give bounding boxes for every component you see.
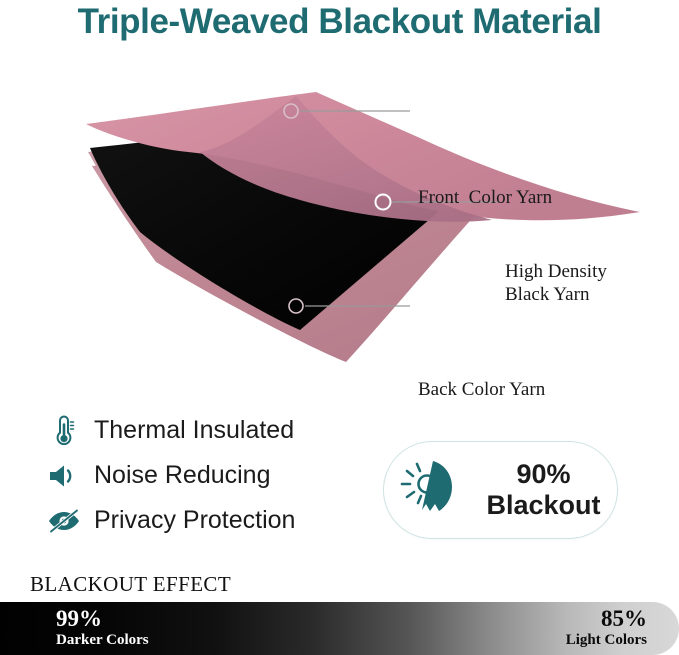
callout-label-middle: High DensityBlack Yarn (505, 260, 607, 306)
callout-label-front: Front Color Yarn (418, 186, 552, 209)
left-percent: 99% (56, 607, 149, 632)
badge-text: 90%Blackout (476, 459, 617, 521)
left-caption: Darker Colors (56, 632, 149, 649)
right-caption: Light Colors (566, 632, 647, 649)
page-title: Triple-Weaved Blackout Material (0, 2, 679, 42)
sun-blocked-icon (398, 455, 476, 525)
feature-list: Thermal Insulated Noise Reducing Privacy… (44, 408, 374, 543)
blackout-badge: 90%Blackout (383, 441, 618, 539)
fabric-layer-diagram: Front Color Yarn High DensityBlack Yarn … (0, 80, 679, 365)
feature-label: Thermal Insulated (94, 416, 294, 445)
callout-label-middle-line1: High Density (505, 261, 607, 282)
blackout-effect-heading: BLACKOUT EFFECT (30, 572, 231, 597)
blackout-effect-right: 85% Light Colors (566, 607, 647, 648)
speaker-icon (44, 458, 84, 494)
badge-caption: Blackout (486, 490, 600, 520)
badge-percent: 90% (516, 459, 570, 489)
right-percent: 85% (566, 607, 647, 632)
feature-privacy-protection: Privacy Protection (44, 498, 374, 543)
eye-off-icon (44, 503, 84, 539)
callout-label-middle-line2: Black Yarn (505, 284, 589, 305)
callout-label-back: Back Color Yarn (418, 378, 545, 401)
feature-noise-reducing: Noise Reducing (44, 453, 374, 498)
thermometer-icon (44, 413, 84, 449)
feature-label: Noise Reducing (94, 461, 271, 490)
feature-label: Privacy Protection (94, 506, 295, 535)
blackout-effect-left: 99% Darker Colors (56, 607, 149, 648)
feature-thermal-insulated: Thermal Insulated (44, 408, 374, 453)
